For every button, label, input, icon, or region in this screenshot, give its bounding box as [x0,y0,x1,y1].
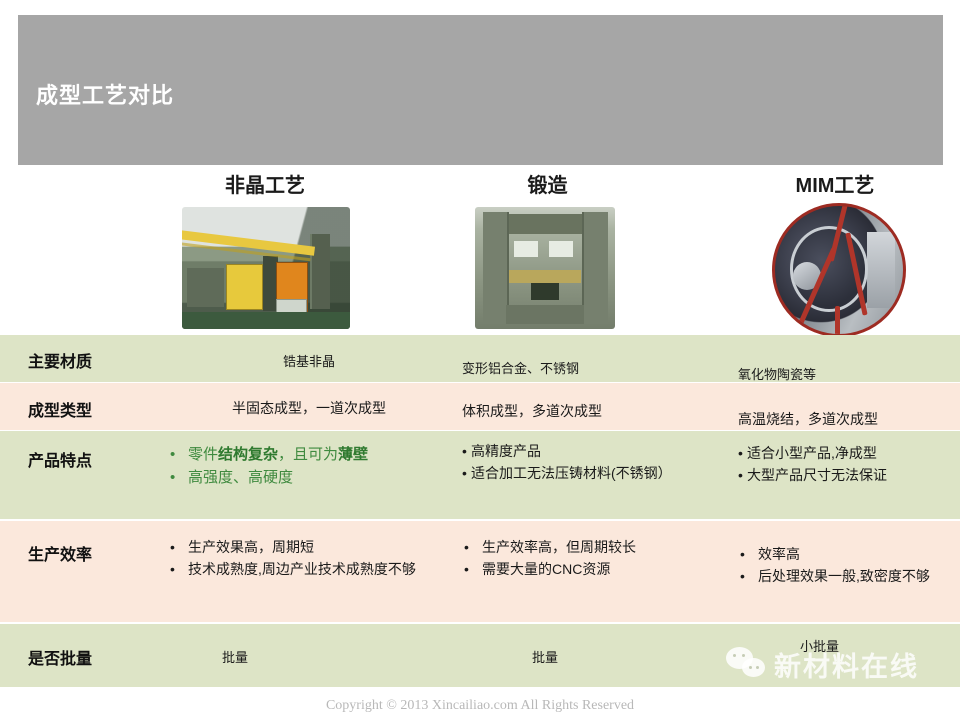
photo-part [509,270,582,282]
list-item: 后处理效果一般,致密度不够 [738,566,953,588]
row-cell: 批量 [532,647,558,666]
photo-part [182,229,315,255]
bullet-list: 零件结构复杂，且可为薄壁 高强度、高硬度 [168,443,450,490]
photo-part [226,264,263,310]
list-item: 需要大量的CNC资源 [462,559,734,581]
list-item: 生产效果高，周期短 [168,537,450,559]
column-header-2: 锻造 [440,169,655,198]
photo-part [531,283,559,300]
photo-part [514,241,538,257]
photo-part [182,312,350,329]
row-cell-features-forging: 高精度产品 适合加工无法压铸材料(不锈钢） [462,441,734,484]
photo-part [582,212,608,324]
table-row: 产品特点 零件结构复杂，且可为薄壁 高强度、高硬度 高精度产品 适合加工无法压铸… [0,431,960,519]
mim-sintering-furnace-photo [772,203,906,337]
page-title: 成型工艺对比 [36,78,174,110]
list-item: 大型产品尺寸无法保证 [738,465,953,487]
list-item: 生产效率高，但周期较长 [462,537,734,559]
row-cell: 批量 [222,647,248,666]
list-item: 技术成熟度,周边产业技术成熟度不够 [168,559,450,581]
photo-part [835,306,840,337]
photo-part [187,268,224,307]
table-row: 生产效率 生产效果高，周期短 技术成熟度,周边产业技术成熟度不够 生产效率高，但… [0,521,960,622]
bullet-list: 效率高 后处理效果一般,致密度不够 [738,544,953,587]
bullet-list: 适合小型产品,净成型 大型产品尺寸无法保证 [738,443,953,486]
row-cell-efficiency-mim: 效率高 后处理效果一般,致密度不够 [738,544,953,587]
photo-part [549,241,573,257]
list-item: 零件结构复杂，且可为薄壁 [168,443,450,466]
photo-part [506,305,584,325]
row-label: 是否批量 [28,645,168,669]
column-header-1: 非晶工艺 [150,169,380,198]
row-cell: 变形铝合金、不锈钢 [462,358,734,377]
table-row: 成型类型 半固态成型，一道次成型 体积成型，多道次成型 高温烧结，多道次成型 [0,383,960,430]
list-item: 适合小型产品,净成型 [738,443,953,465]
row-cell: 锆基非晶 [168,351,450,370]
row-cell: 小批量 [800,636,839,655]
row-label: 产品特点 [28,447,168,471]
row-cell-efficiency-amorphous: 生产效果高，周期短 技术成熟度,周边产业技术成熟度不够 [168,537,450,580]
slide-canvas: 成型工艺对比 非晶工艺 锻造 MIM工艺 主要材质 锆基非晶 变 [0,0,960,720]
copyright-footer: Copyright © 2013 Xincailiao.com All Righ… [0,698,960,714]
list-item: 适合加工无法压铸材料(不锈钢） [462,463,734,485]
row-cell-features-mim: 适合小型产品,净成型 大型产品尺寸无法保证 [738,443,953,486]
bullet-list: 高精度产品 适合加工无法压铸材料(不锈钢） [462,441,734,484]
column-header-3: MIM工艺 [720,169,950,198]
list-item: 效率高 [738,544,953,566]
row-cell: 高温烧结，多道次成型 [738,409,953,429]
row-label: 生产效率 [28,541,168,565]
table-row: 主要材质 锆基非晶 变形铝合金、不锈钢 氧化物陶瓷等 [0,335,960,382]
row-cell: 体积成型，多道次成型 [462,401,734,421]
row-cell: 氧化物陶瓷等 [738,364,953,383]
photo-part [310,234,330,310]
row-cell-features-amorphous: 零件结构复杂，且可为薄壁 高强度、高硬度 [168,443,450,490]
list-item: 高强度、高硬度 [168,466,450,489]
bullet-list: 生产效果高，周期短 技术成熟度,周边产业技术成熟度不够 [168,537,450,580]
photo-part [507,214,583,234]
photo-part [867,232,895,309]
table-row: 是否批量 批量 批量 小批量 [0,624,960,687]
row-cell-efficiency-forging: 生产效率高，但周期较长 需要大量的CNC资源 [462,537,734,580]
list-item: 高精度产品 [462,441,734,463]
forging-press-photo [475,207,615,329]
row-label: 主要材质 [28,348,168,372]
die-casting-machine-photo [182,207,350,329]
bullet-list: 生产效率高，但周期较长 需要大量的CNC资源 [462,537,734,580]
row-label: 成型类型 [28,397,168,421]
row-cell: 半固态成型，一道次成型 [168,398,450,418]
